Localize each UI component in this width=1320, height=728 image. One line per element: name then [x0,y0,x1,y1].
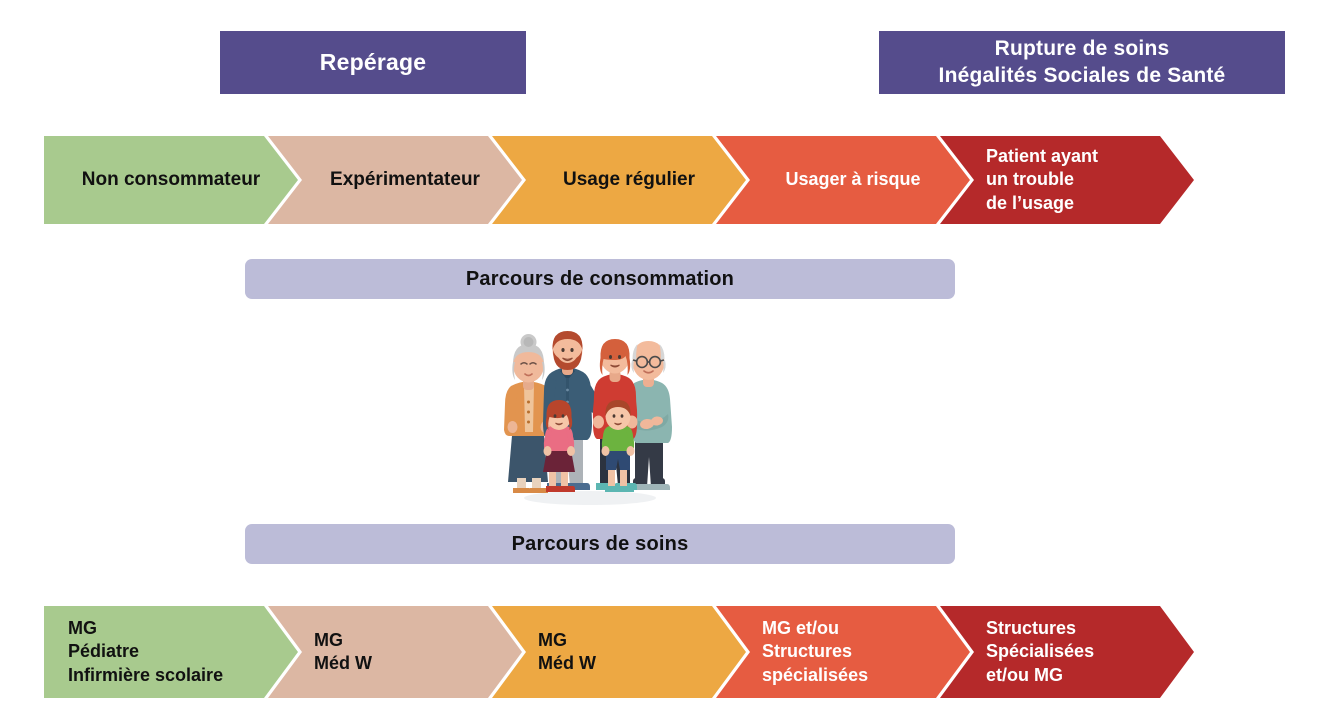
stage-chevron-label: Expérimentateur [330,168,480,193]
diagram-canvas: Repérage Rupture de soins Inégalités Soc… [0,0,1320,728]
banner-rupture-line-1: Rupture de soins [995,36,1170,63]
stage-chevron: Non consommateur [44,136,298,224]
consumption-stage-row: Non consommateurExpérimentateurUsage rég… [0,136,1320,224]
pathway-bar-consumption: Parcours de consommation [245,259,955,299]
stage-chevron-label: Structures Spécialisées et/ou MG [986,617,1094,687]
stage-chevron: MG Méd W [492,606,746,698]
family-illustration [497,328,683,508]
stage-chevron-label: Non consommateur [82,168,260,193]
care-stage-row: MG Pédiatre Infirmière scolaireMG Méd WM… [0,606,1320,698]
stage-chevron: Expérimentateur [268,136,522,224]
stage-chevron: Patient ayant un trouble de l’usage [940,136,1194,224]
banner-reperage: Repérage [220,31,526,94]
stage-chevron: MG et/ou Structures spécialisées [716,606,970,698]
stage-chevron: MG Pédiatre Infirmière scolaire [44,606,298,698]
stage-chevron: Usager à risque [716,136,970,224]
banner-rupture-de-soins: Rupture de soins Inégalités Sociales de … [879,31,1285,94]
banner-reperage-label: Repérage [320,48,426,77]
banner-rupture-line-2: Inégalités Sociales de Santé [939,63,1226,90]
stage-chevron: Structures Spécialisées et/ou MG [940,606,1194,698]
stage-chevron-label: MG Méd W [538,629,596,676]
stage-chevron-label: MG Méd W [314,629,372,676]
stage-chevron-label: MG Pédiatre Infirmière scolaire [68,617,223,687]
stage-chevron-label: MG et/ou Structures spécialisées [762,617,868,687]
pathway-bar-consumption-label: Parcours de consommation [466,268,734,291]
pathway-bar-care: Parcours de soins [245,524,955,564]
stage-chevron: Usage régulier [492,136,746,224]
stage-chevron-label: Patient ayant un trouble de l’usage [986,145,1098,215]
stage-chevron-label: Usager à risque [785,168,920,191]
stage-chevron: MG Méd W [268,606,522,698]
pathway-bar-care-label: Parcours de soins [512,533,689,556]
stage-chevron-label: Usage régulier [563,168,695,193]
